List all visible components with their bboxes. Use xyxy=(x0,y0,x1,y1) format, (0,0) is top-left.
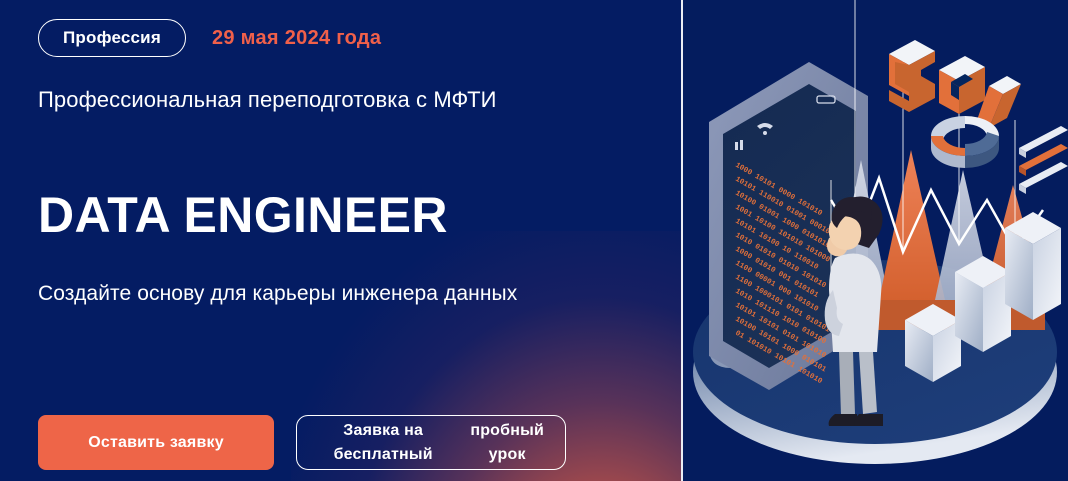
free-trial-line-1: Заявка на бесплатный xyxy=(307,419,459,467)
cube-small xyxy=(905,304,961,382)
cube-medium xyxy=(955,256,1011,352)
isometric-data-engineer-illustration: 1000 10101 0000 101010 10101 110010 0100… xyxy=(683,0,1068,481)
cube-large xyxy=(1005,212,1061,320)
promo-banner: Профессия 29 мая 2024 года Профессиональ… xyxy=(0,0,1068,481)
left-content-panel: Профессия 29 мая 2024 года Профессиональ… xyxy=(0,0,681,481)
badge-and-date-row: Профессия 29 мая 2024 года xyxy=(38,19,381,57)
submit-application-button[interactable]: Оставить заявку xyxy=(38,415,274,470)
profession-badge[interactable]: Профессия xyxy=(38,19,186,57)
left-content-stack: Профессия 29 мая 2024 года Профессиональ… xyxy=(38,0,658,481)
cta-button-row: Оставить заявку Заявка на бесплатный про… xyxy=(38,415,566,470)
program-tagline: Создайте основу для карьеры инженера дан… xyxy=(38,282,517,306)
illustration-panel: 1000 10101 0000 101010 10101 110010 0100… xyxy=(683,0,1068,481)
free-trial-lesson-button[interactable]: Заявка на бесплатный пробный урок xyxy=(296,415,566,470)
free-trial-line-2: пробный урок xyxy=(459,419,555,467)
start-date-label: 29 мая 2024 года xyxy=(212,27,381,50)
program-subtitle: Профессиональная переподготовка с МФТИ xyxy=(38,87,497,113)
page-title: DATA ENGINEER xyxy=(38,188,448,243)
